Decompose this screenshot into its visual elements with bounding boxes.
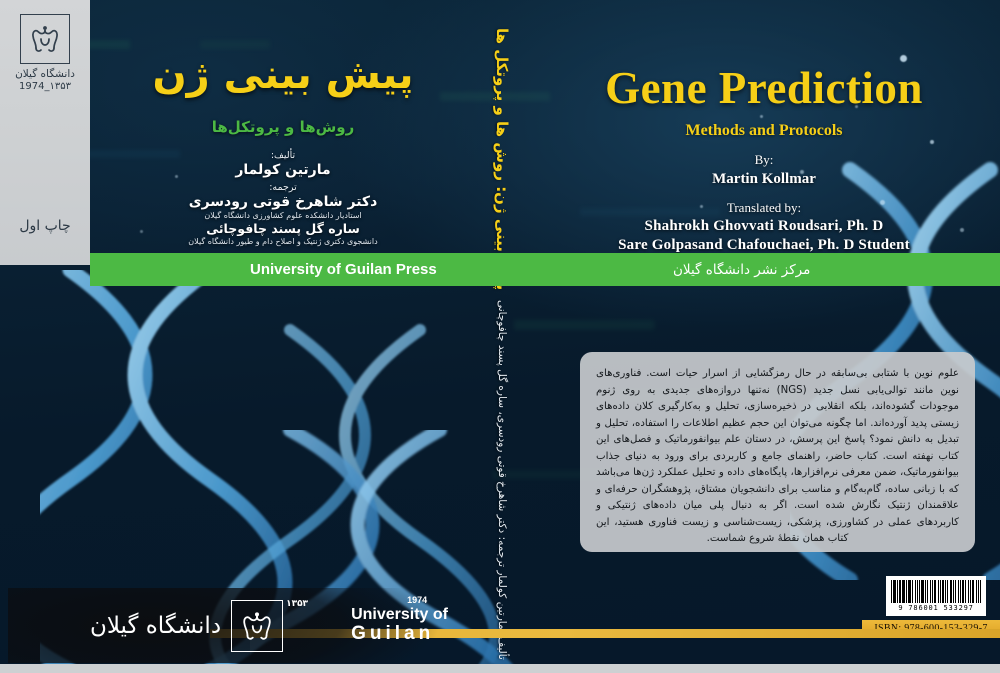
front-translators: Translated by: Shahrokh Ghovvati Roudsar…	[528, 200, 1000, 254]
translator-two-name-fa: ساره گل پسند چافوچائی	[90, 221, 476, 236]
by-label: By:	[528, 152, 1000, 168]
flap-university-logo: دانشگاه گیلان ۱۳۵۳_1974	[0, 14, 90, 92]
publisher-name-fa: مرکز نشر دانشگاه گیلان	[673, 262, 810, 278]
guilan-crest-icon	[20, 14, 70, 64]
barcode-digits: 9 786001 533297	[891, 604, 981, 612]
bottom-edge-strip	[0, 664, 1000, 673]
back-cover-blurb: علوم نوین با شتابی بی‌سابقه در حال رمزگش…	[580, 352, 975, 552]
barcode: 9 786001 533297	[886, 576, 986, 616]
translator-one-name-en: Shahrokh Ghovvati Roudsari, Ph. D	[528, 218, 1000, 235]
edition-label: چاپ اول	[0, 218, 90, 234]
book-cover: دانشگاه گیلان ۱۳۵۳_1974 چاپ اول پیش بینی…	[0, 0, 1000, 673]
lockup-persian: دانشگاه گیلان	[90, 613, 221, 639]
front-subtitle-en: Methods and Protocols	[528, 122, 1000, 140]
lockup-line-two: Guilan	[351, 624, 448, 644]
university-lockup: 1974 University of Guilan ۱۳۵۳ دانشگاه گ…	[8, 588, 448, 663]
lockup-english: 1974 University of Guilan	[351, 607, 448, 644]
translator-two-name-en: Sare Golpasand Chafouchaei, Ph. D Studen…	[528, 237, 1000, 254]
translator-two-affiliation-fa: دانشجوی دکتری ژنتیک و اصلاح دام و طیور د…	[90, 237, 476, 246]
translator-one-name-fa: دکتر شاهرخ قوتی رودسری	[90, 194, 476, 210]
barcode-bars	[891, 580, 981, 603]
spine-authors-fa: تألیف: مارتین کولمار ترجمه: دکتر شاهرخ ق…	[496, 300, 508, 660]
publisher-name-en: University of Guilan Press	[250, 261, 437, 278]
flap-university-year: ۱۳۵۳_1974	[0, 81, 90, 92]
spine-title-fa: پیش بینی ژن: روش ها و پروتکل ها	[493, 28, 511, 290]
left-flap: دانشگاه گیلان ۱۳۵۳_1974 چاپ اول	[0, 0, 90, 265]
lockup-year-en: 1974	[407, 596, 427, 605]
translated-by-label: Translated by:	[528, 200, 1000, 216]
spine: پیش بینی ژن: روش ها و پروتکل ها تألیف: م…	[476, 0, 528, 673]
back-subtitle-fa: روش‌ها و پروتکل‌ها	[90, 118, 476, 136]
back-credits-fa: تألیف: مارتین کولمار ترجمه: دکتر شاهرخ ق…	[90, 146, 476, 246]
guilan-crest-icon: ۱۳۵۳	[231, 600, 283, 652]
translator-label-fa: ترجمه:	[90, 182, 476, 193]
lockup-year-fa: ۱۳۵۳	[286, 599, 308, 609]
back-cover: پیش بینی ژن روش‌ها و پروتکل‌ها تألیف: ما…	[90, 0, 476, 673]
author-name-en: Martin Kollmar	[528, 171, 1000, 188]
back-title-fa: پیش بینی ژن	[90, 52, 476, 98]
translator-one-affiliation-fa: استادیار دانشکده علوم کشاورزی دانشگاه گی…	[90, 211, 476, 220]
front-byline: By: Martin Kollmar	[528, 152, 1000, 188]
publisher-band: مرکز نشر دانشگاه گیلان University of Gui…	[90, 253, 1000, 286]
lockup-line-one: University of	[351, 607, 448, 624]
author-name-fa: مارتین کولمار	[90, 162, 476, 178]
flap-university-name-fa: دانشگاه گیلان	[0, 68, 90, 80]
author-label-fa: تألیف:	[90, 150, 476, 161]
front-cover: Gene Prediction Methods and Protocols By…	[528, 0, 1000, 673]
front-title-en: Gene Prediction	[528, 62, 1000, 114]
